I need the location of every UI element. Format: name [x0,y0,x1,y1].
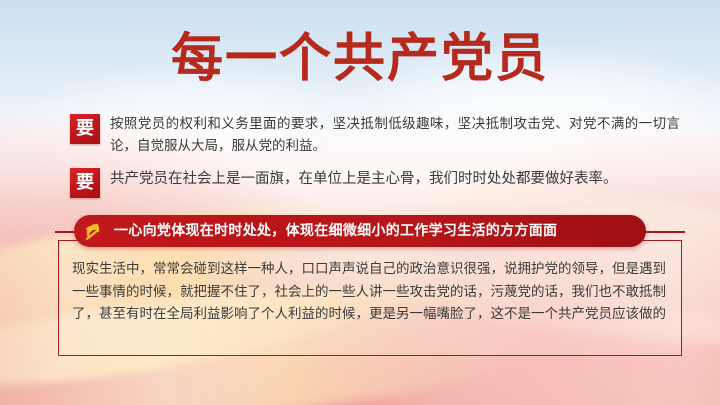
list-item: 要 共产党员在社会上是一面旗，在单位上是主心骨，我们时时处处都要做好表率。 [70,167,680,198]
bullet-badge-yao: 要 [70,114,100,144]
page-title: 每一个共产党员 [0,30,720,88]
bullet-badge-yao: 要 [70,168,100,198]
bullet-text: 按照党员的权利和义务里面的要求，坚决抵制低级趣味，坚决抵制攻击党、对党不满的一切… [110,113,680,157]
panel-banner-title: 一心向党体现在时时处处，体现在细微细小的工作学习生活的方方面面 [114,215,557,247]
panel-banner: 一心向党体现在时时处处，体现在细微细小的工作学习生活的方方面面 [74,215,646,247]
highlight-panel: 一心向党体现在时时处处，体现在细微细小的工作学习生活的方方面面 现实生活中，常常… [58,240,682,356]
bullet-text: 共产党员在社会上是一面旗，在单位上是主心骨，我们时时处处都要做好表率。 [110,167,680,191]
bullet-list: 要 按照党员的权利和义务里面的要求，坚决抵制低级趣味，坚决抵制攻击党、对党不满的… [70,113,680,208]
slide-root: 每一个共产党员 要 按照党员的权利和义务里面的要求，坚决抵制低级趣味，坚决抵制攻… [0,0,720,405]
panel-body-text: 现实生活中，常常会碰到这样一种人，口口声声说自己的政治意识很强，说拥护党的领导，… [72,258,666,326]
hammer-and-sickle-icon [80,219,104,243]
list-item: 要 按照党员的权利和义务里面的要求，坚决抵制低级趣味，坚决抵制攻击党、对党不满的… [70,113,680,157]
